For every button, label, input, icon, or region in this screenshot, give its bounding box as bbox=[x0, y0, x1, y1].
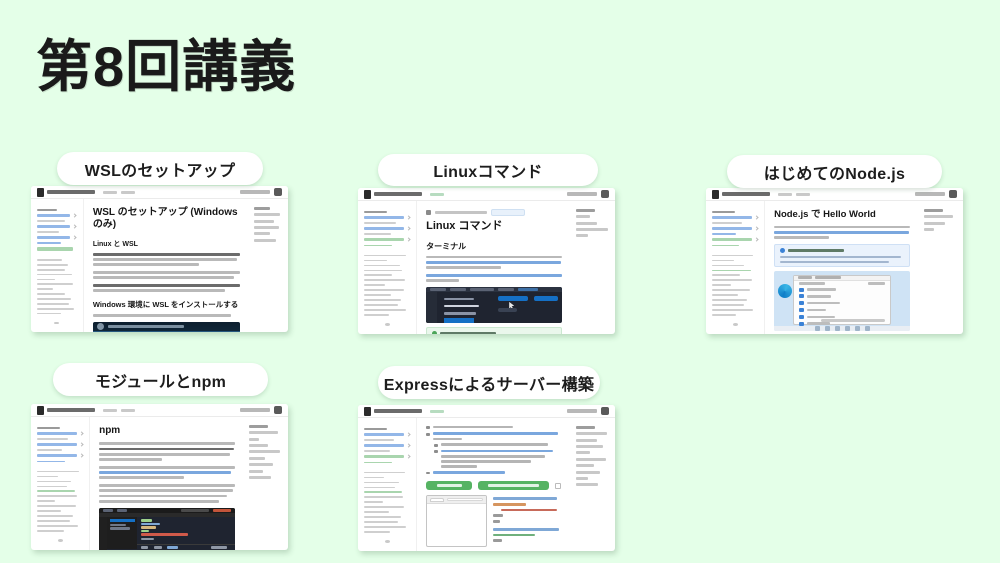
doc-main-content: Linux コマンド ターミナル bbox=[417, 201, 571, 334]
site-logo-icon bbox=[712, 190, 719, 199]
doc-body: Linux コマンド ターミナル bbox=[358, 201, 615, 334]
doc-header bbox=[358, 405, 615, 418]
doc-paragraph bbox=[93, 271, 240, 279]
doc-sidebar-nav[interactable] bbox=[358, 201, 417, 334]
info-icon bbox=[432, 331, 437, 334]
doc-sidebar-nav[interactable] bbox=[31, 417, 90, 550]
doc-heading: Node.js で Hello World bbox=[774, 209, 910, 221]
secondary-action-button[interactable] bbox=[478, 481, 549, 490]
doc-paragraph bbox=[774, 226, 910, 239]
header-nav[interactable] bbox=[103, 409, 135, 412]
list-item bbox=[426, 450, 562, 468]
site-name bbox=[374, 192, 422, 196]
card-label-wsl-setup[interactable]: WSLのセットアップ bbox=[57, 152, 263, 185]
doc-heading: WSL のセットアップ (Windows のみ) bbox=[93, 207, 240, 232]
info-callout bbox=[774, 244, 910, 267]
search-icon bbox=[949, 190, 957, 198]
header-nav[interactable] bbox=[103, 191, 135, 194]
list-item bbox=[426, 443, 562, 446]
doc-sidebar-nav[interactable] bbox=[358, 418, 417, 551]
thumbnail-card-wsl-setup[interactable]: WSL のセットアップ (Windows のみ) Linux と WSL Win… bbox=[31, 186, 288, 332]
doc-paragraph bbox=[93, 314, 240, 317]
site-logo-icon bbox=[364, 407, 371, 416]
doc-heading: npm bbox=[99, 425, 235, 438]
header-actions[interactable] bbox=[567, 190, 609, 198]
pagination-dot bbox=[54, 322, 59, 325]
doc-sidebar-nav[interactable] bbox=[31, 199, 84, 332]
list-item bbox=[426, 471, 562, 474]
pagination-dot bbox=[58, 539, 63, 542]
info-icon bbox=[780, 248, 785, 253]
doc-paragraph bbox=[426, 274, 562, 282]
site-name bbox=[47, 190, 95, 194]
run-button[interactable] bbox=[426, 481, 472, 490]
doc-paragraph bbox=[99, 484, 235, 503]
card-label-express-server[interactable]: Expressによるサーバー構築 bbox=[378, 366, 600, 399]
search-icon bbox=[274, 406, 282, 414]
doc-header bbox=[31, 404, 288, 417]
doc-page: { } Express は、ブラウザにレスポンスを送信する bbox=[358, 405, 615, 551]
site-name bbox=[722, 192, 770, 196]
pagination-dot bbox=[385, 540, 390, 543]
breadcrumb[interactable] bbox=[426, 209, 562, 216]
explorer-window bbox=[793, 275, 891, 325]
header-nav[interactable] bbox=[778, 193, 810, 196]
terminal-screenshot[interactable] bbox=[426, 287, 562, 323]
doc-header bbox=[358, 188, 615, 201]
doc-body: WSL のセットアップ (Windows のみ) Linux と WSL Win… bbox=[31, 199, 288, 332]
doc-page: WSL のセットアップ (Windows のみ) Linux と WSL Win… bbox=[31, 186, 288, 332]
doc-paragraph bbox=[93, 284, 240, 292]
search-icon bbox=[274, 188, 282, 196]
doc-toc[interactable] bbox=[571, 201, 615, 334]
thumbnail-card-linux-commands[interactable]: Linux コマンド ターミナル bbox=[358, 188, 615, 334]
doc-toc[interactable] bbox=[244, 417, 288, 550]
doc-page: Node.js で Hello World bbox=[706, 188, 963, 334]
card-label-first-nodejs[interactable]: はじめてのNode.js bbox=[727, 155, 942, 188]
header-actions[interactable] bbox=[240, 188, 282, 196]
card-label-modules-npm[interactable]: モジュールとnpm bbox=[53, 363, 268, 396]
doc-paragraph bbox=[99, 442, 235, 461]
doc-main-content: npm bbox=[90, 417, 244, 550]
site-logo-icon bbox=[364, 190, 371, 199]
search-icon bbox=[601, 190, 609, 198]
doc-toc[interactable] bbox=[249, 199, 288, 332]
vscode-screenshot[interactable] bbox=[99, 508, 235, 550]
doc-header bbox=[706, 188, 963, 201]
copy-icon[interactable] bbox=[555, 483, 561, 489]
site-name bbox=[47, 408, 95, 412]
thumbnail-card-first-nodejs[interactable]: Node.js で Hello World bbox=[706, 188, 963, 334]
doc-paragraph bbox=[426, 256, 562, 269]
site-logo-icon bbox=[37, 188, 44, 197]
video-thumbnail[interactable]: 18:31 bbox=[93, 322, 240, 332]
list-item bbox=[426, 426, 562, 429]
windows-taskbar bbox=[774, 326, 910, 331]
pagination-dot bbox=[385, 323, 390, 326]
doc-toc[interactable] bbox=[571, 418, 615, 551]
doc-heading: Linux コマンド bbox=[426, 220, 562, 234]
list-item bbox=[426, 432, 562, 440]
doc-paragraph bbox=[93, 253, 240, 266]
search-icon bbox=[601, 407, 609, 415]
header-actions[interactable] bbox=[915, 190, 957, 198]
doc-body: Node.js で Hello World bbox=[706, 201, 963, 334]
explorer-screenshot[interactable] bbox=[774, 271, 910, 331]
card-label-linux-commands[interactable]: Linuxコマンド bbox=[378, 154, 598, 186]
page-title: 第8回講義 bbox=[36, 36, 296, 98]
doc-paragraph bbox=[99, 466, 235, 479]
info-callout bbox=[426, 327, 562, 334]
site-name bbox=[374, 409, 422, 413]
thumbnail-card-express-server[interactable]: { } Express は、ブラウザにレスポンスを送信する bbox=[358, 405, 615, 551]
doc-section-heading-1: Linux と WSL bbox=[93, 239, 240, 249]
doc-page: Linux コマンド ターミナル bbox=[358, 188, 615, 334]
doc-main-content: { } Express は、ブラウザにレスポンスを送信する bbox=[417, 418, 571, 551]
header-actions[interactable] bbox=[240, 406, 282, 414]
doc-section-heading-2: Windows 環境に WSL をインストールする bbox=[93, 299, 240, 310]
doc-sidebar-nav[interactable] bbox=[706, 201, 765, 334]
doc-main-content: WSL のセットアップ (Windows のみ) Linux と WSL Win… bbox=[84, 199, 249, 332]
status-badge bbox=[491, 209, 525, 216]
doc-body: npm bbox=[31, 417, 288, 550]
browser-preview[interactable] bbox=[426, 495, 487, 547]
pagination-dot bbox=[733, 323, 738, 326]
header-nav[interactable] bbox=[430, 410, 444, 413]
doc-header bbox=[31, 186, 288, 199]
header-actions[interactable] bbox=[567, 407, 609, 415]
edge-browser-icon bbox=[778, 284, 792, 298]
doc-main-content: Node.js で Hello World bbox=[765, 201, 919, 334]
ordered-steps bbox=[426, 426, 562, 475]
site-logo-icon bbox=[37, 406, 44, 415]
header-nav[interactable] bbox=[430, 193, 444, 196]
doc-body: { } Express は、ブラウザにレスポンスを送信する bbox=[358, 418, 615, 551]
code-block bbox=[493, 495, 562, 547]
doc-page: npm bbox=[31, 404, 288, 550]
doc-section-heading-1: ターミナル bbox=[426, 241, 562, 252]
thumbnail-card-modules-npm[interactable]: npm bbox=[31, 404, 288, 550]
doc-toc[interactable] bbox=[919, 201, 963, 334]
